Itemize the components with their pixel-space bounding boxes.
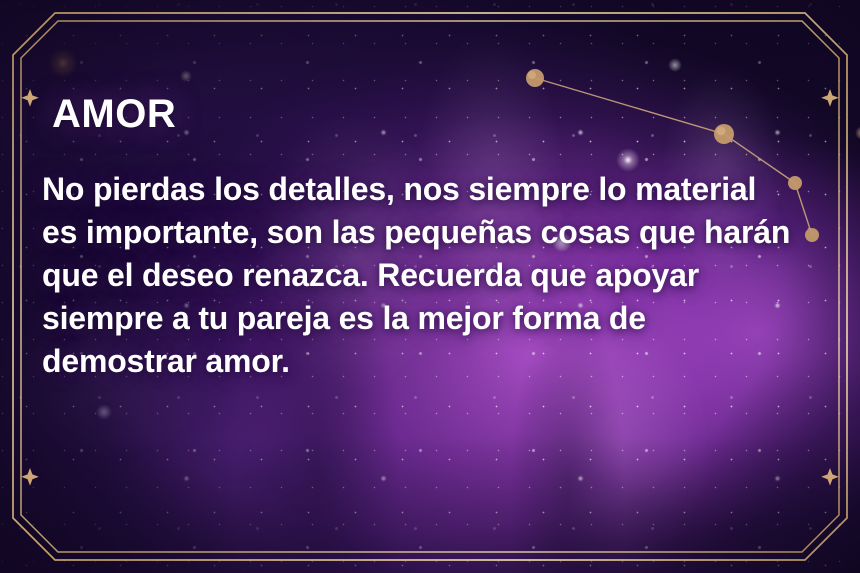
body-line: que el deseo renazca. Recuerda que apoya… — [42, 254, 814, 297]
body-line: es importante, son las pequeñas cosas qu… — [42, 211, 814, 254]
horoscope-body: No pierdas los detalles, nos siempre lo … — [42, 168, 814, 383]
body-line: demostrar amor. — [42, 340, 814, 383]
body-line: siempre a tu pareja es la mejor forma de — [42, 297, 814, 340]
horoscope-card: AMOR No pierdas los detalles, nos siempr… — [0, 0, 860, 573]
page-title: AMOR — [52, 92, 814, 136]
body-line: No pierdas los detalles, nos siempre lo … — [42, 168, 814, 211]
card-content: AMOR No pierdas los detalles, nos siempr… — [42, 92, 814, 383]
